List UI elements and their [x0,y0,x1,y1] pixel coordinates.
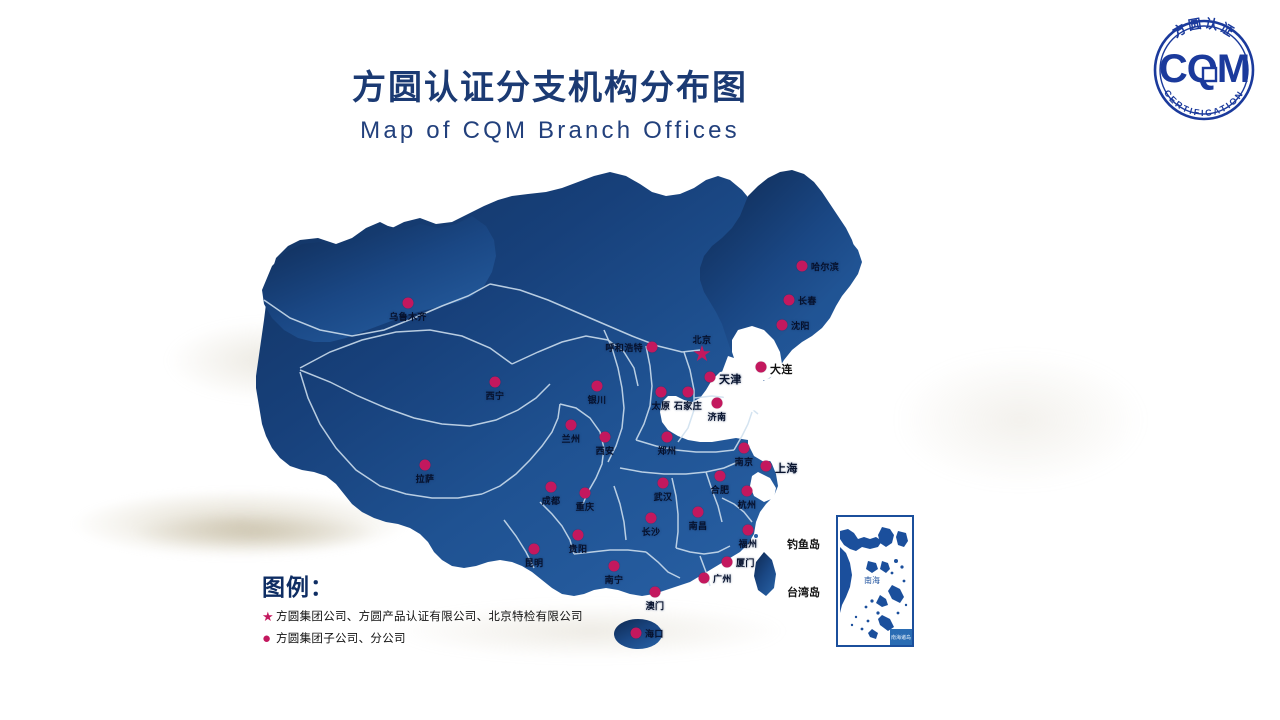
city-label: 乌鲁木齐 [389,310,427,323]
cqm-certification-logo: 方圆认证 CERTIFICATION CQM [1140,6,1268,126]
dot-icon [609,561,620,572]
legend-rows: ★方圆集团公司、方圆产品认证有限公司、北京特检有限公司●方圆集团子公司、分公司 [262,608,583,646]
city-label: 重庆 [576,500,595,513]
dot-icon [742,486,753,497]
dot-icon [739,443,750,454]
city-label: 天津 [719,371,742,387]
city-label: 上海 [775,460,798,476]
dot-icon [490,377,501,388]
dot-icon [656,387,667,398]
city-label: 太原 [652,399,671,412]
star-icon: ★ [692,343,712,365]
dot-icon [403,298,414,309]
inset-scale-label: 南海诸岛 [891,634,911,641]
legend: 图例： ★方圆集团公司、方圆产品认证有限公司、北京特检有限公司●方圆集团子公司、… [262,572,583,646]
dot-icon [705,372,716,383]
city-label: 沈阳 [791,319,810,332]
dot-icon [580,488,591,499]
inset-map-svg: 南海 南海诸岛 [838,517,912,645]
svg-text:方圆认证: 方圆认证 [1170,16,1238,42]
dot-icon [662,432,673,443]
city-label: 贵阳 [569,542,588,555]
dot-icon [699,573,710,584]
city-label: 石家庄 [674,399,702,412]
dot-icon [546,482,557,493]
city-label: 武汉 [654,490,673,503]
city-label: 杭州 [738,498,757,511]
dot-icon [420,460,431,471]
city-label: 大连 [770,361,793,377]
background-wash-left2 [120,505,420,560]
dot-icon [646,513,657,524]
slide-root: 方圆认证分支机构分布图 Map of CQM Branch Offices 方圆… [0,0,1280,720]
logo-seal-icon: 方圆认证 CERTIFICATION CQM [1140,6,1268,126]
background-wash-left [60,470,420,560]
dot-icon [592,381,603,392]
inset-sea-label: 南海 [864,575,880,585]
dot-icon [658,478,669,489]
island-label: 台湾岛 [787,584,820,600]
svg-text:CERTIFICATION: CERTIFICATION [1162,88,1246,118]
dot-icon [600,432,611,443]
city-label: 北京 [693,333,712,346]
south-china-sea-inset-map: 南海 南海诸岛 [836,515,914,647]
legend-dot-icon: ● [262,631,276,646]
title-chinese: 方圆认证分支机构分布图 [0,66,1100,110]
city-label: 南昌 [689,519,708,532]
dot-icon [647,342,658,353]
dot-icon [715,471,726,482]
page-title: 方圆认证分支机构分布图 Map of CQM Branch Offices [0,66,1100,148]
dot-icon [777,320,788,331]
city-label: 哈尔滨 [811,260,839,273]
background-wash-topleft [130,300,360,410]
city-label: 广州 [713,572,732,585]
city-label: 兰州 [562,432,581,445]
dot-icon [784,295,795,306]
city-label: 澳门 [646,599,665,612]
city-label: 济南 [708,410,727,423]
city-label: 福州 [739,537,758,550]
dot-icon [631,628,642,639]
dot-icon [743,525,754,536]
legend-star-icon: ★ [262,610,276,623]
dot-icon [683,387,694,398]
island-label: 钓鱼岛 [787,536,820,552]
legend-item-text: 方圆集团子公司、分公司 [276,630,406,646]
dot-icon [761,461,772,472]
mainland-landmass [256,170,862,596]
dot-icon [573,530,584,541]
dot-icon [693,507,704,518]
city-label: 西安 [596,444,615,457]
city-label: 长沙 [642,525,661,538]
dot-icon [529,544,540,555]
city-label: 郑州 [658,444,677,457]
city-label: 拉萨 [416,472,435,485]
dot-icon [566,420,577,431]
dot-icon [712,398,723,409]
city-label: 厦门 [736,556,755,569]
city-label: 合肥 [711,483,730,496]
dot-icon [650,587,661,598]
province-borders [264,284,758,586]
title-english: Map of CQM Branch Offices [0,114,1100,148]
legend-item-text: 方圆集团公司、方圆产品认证有限公司、北京特检有限公司 [276,608,583,624]
background-wash-right [900,330,1200,510]
city-label: 银川 [588,393,607,406]
dot-icon [722,557,733,568]
dot-icon [797,261,808,272]
city-label: 西宁 [486,389,505,402]
city-label: 昆明 [525,556,544,569]
city-label: 海口 [645,627,664,640]
dot-icon [756,362,767,373]
city-label: 成都 [542,494,561,507]
legend-item: ★方圆集团公司、方圆产品认证有限公司、北京特检有限公司 [262,608,583,624]
city-label: 长春 [798,294,817,307]
taiwan-island [754,552,776,596]
city-label: 南京 [735,455,754,468]
legend-title: 图例： [262,572,583,602]
legend-item: ●方圆集团子公司、分公司 [262,630,583,646]
city-label: 呼和浩特 [605,341,643,354]
city-label: 南宁 [605,573,624,586]
